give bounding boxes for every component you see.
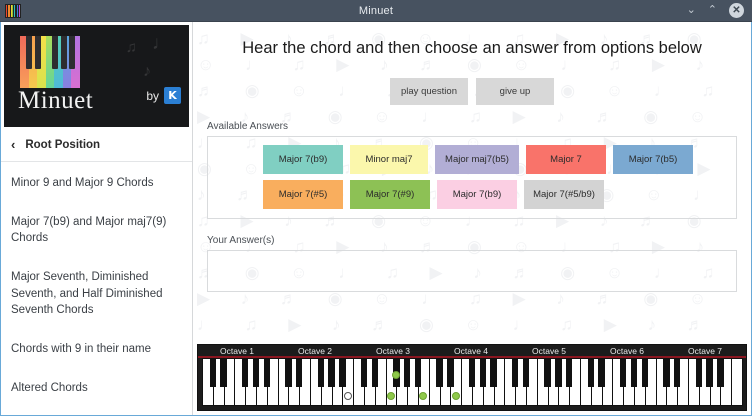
sidebar-item-major-seventh[interactable]: Major Seventh, Diminished Seventh, and H… <box>1 258 192 330</box>
music-note-icon: ♫ <box>126 39 137 56</box>
your-answers-label: Your Answer(s) <box>207 235 751 246</box>
piano-black-key[interactable] <box>544 358 550 387</box>
answer-option[interactable]: Major maj7(b5) <box>435 145 519 174</box>
available-answers-label: Available Answers <box>207 121 751 132</box>
piano-black-key[interactable] <box>598 358 604 387</box>
piano-black-key[interactable] <box>264 358 270 387</box>
piano-black-key[interactable] <box>555 358 561 387</box>
answer-option[interactable]: Major 7(b5) <box>613 145 693 174</box>
piano-black-key[interactable] <box>361 358 367 387</box>
piano-black-key[interactable] <box>674 358 680 387</box>
sidebar: ♫ ♩ ♪ Minuet by K ‹ Root Position Minor … <box>1 22 193 415</box>
note-marker-root <box>344 392 352 400</box>
octave-label: Octave 6 <box>610 346 644 356</box>
answer-option[interactable]: Major 7(#5) <box>263 180 343 209</box>
piano-black-key[interactable] <box>372 358 378 387</box>
play-question-button[interactable]: play question <box>390 78 468 105</box>
app-name: Minuet <box>18 87 93 115</box>
piano-black-key[interactable] <box>469 358 475 387</box>
piano-black-key[interactable] <box>210 358 216 387</box>
sidebar-item-chords-with-7[interactable]: Chords with 7 in their name <box>1 407 192 415</box>
note-marker-active <box>387 392 395 400</box>
by-label: by <box>146 89 159 103</box>
section-header[interactable]: ‹ Root Position <box>1 127 192 162</box>
kde-logo-icon: K <box>164 87 181 104</box>
piano-black-key[interactable] <box>620 358 626 387</box>
piano-black-key[interactable] <box>717 358 723 387</box>
piano-white-key[interactable] <box>731 358 743 406</box>
title-bar: Minuet ⌄ ⌃ ✕ <box>0 0 752 22</box>
vendor-credit: by K <box>146 87 181 104</box>
available-answers-panel: Major 7(b9) Minor maj7 Major maj7(b5) Ma… <box>207 136 737 219</box>
piano-black-key[interactable] <box>220 358 226 387</box>
piano-black-key[interactable] <box>339 358 345 387</box>
window-body: ♫ ♩ ♪ Minuet by K ‹ Root Position Minor … <box>0 22 752 416</box>
piano-black-key[interactable] <box>415 358 421 387</box>
answer-row-2: Major 7(#5) Major 7(#9) Major 7(b9) Majo… <box>216 180 728 209</box>
back-chevron-icon[interactable]: ‹ <box>11 137 15 152</box>
sidebar-item-chords-with-9[interactable]: Chords with 9 in their name <box>1 330 192 369</box>
piano-black-key[interactable] <box>490 358 496 387</box>
octave-label: Octave 4 <box>454 346 488 356</box>
answer-option[interactable]: Major 7 <box>526 145 606 174</box>
guitar-icon: ♩ <box>152 33 171 55</box>
close-button[interactable]: ✕ <box>729 3 744 18</box>
piano-black-key[interactable] <box>642 358 648 387</box>
rainbow-keyboard-icon <box>20 36 80 88</box>
maximize-button[interactable]: ⌃ <box>708 5 717 16</box>
answer-option[interactable]: Major 7(b9) <box>437 180 517 209</box>
piano-widget: Octave 1 Octave 2 Octave 3 Octave 4 Octa… <box>193 338 751 415</box>
piano-black-key[interactable] <box>285 358 291 387</box>
octave-label: Octave 2 <box>298 346 332 356</box>
octave-label: Octave 7 <box>688 346 722 356</box>
piano-black-key[interactable] <box>523 358 529 387</box>
octave-label: Octave 5 <box>532 346 566 356</box>
app-logo: ♫ ♩ ♪ Minuet by K <box>4 25 189 127</box>
answer-row-1: Major 7(b9) Minor maj7 Major maj7(b5) Ma… <box>216 145 728 174</box>
answer-option[interactable]: Minor maj7 <box>350 145 428 174</box>
piano-black-key[interactable] <box>318 358 324 387</box>
piano-black-key[interactable] <box>328 358 334 387</box>
exercise-controls: play question give up <box>193 78 751 105</box>
octave-label-bar: Octave 1 Octave 2 Octave 3 Octave 4 Octa… <box>198 345 746 358</box>
sidebar-nav: Minor 9 and Major 9 Chords Major 7(b9) a… <box>1 162 192 415</box>
piano-black-key[interactable] <box>404 358 410 387</box>
piano-black-key[interactable] <box>706 358 712 387</box>
piano-black-key[interactable] <box>663 358 669 387</box>
piano-black-key[interactable] <box>631 358 637 387</box>
octave-label: Octave 1 <box>220 346 254 356</box>
piano-black-key[interactable] <box>436 358 442 387</box>
answer-option[interactable]: Major 7(b9) <box>263 145 343 174</box>
answer-option[interactable]: Major 7(#9) <box>350 180 430 209</box>
page-title: Hear the chord and then choose an answer… <box>193 22 751 58</box>
piano-black-key[interactable] <box>242 358 248 387</box>
piano-black-key[interactable] <box>253 358 259 387</box>
your-answers-panel[interactable] <box>207 250 737 292</box>
octave-label: Octave 3 <box>376 346 410 356</box>
app-window: Minuet ⌄ ⌃ ✕ <box>0 0 752 416</box>
piano-keys[interactable] <box>202 358 742 406</box>
note-marker-active <box>452 392 460 400</box>
main-content: ♫ ▶ ♪ ♬ ◉ ☺ ♩ ♫ ▶ ♪ ♬ ◉ ☺ ♩ ♫ ▶ ♪ ♬ ◉ ☺ … <box>193 22 751 415</box>
note-icon: ♪ <box>143 63 151 81</box>
piano-keyboard[interactable]: Octave 1 Octave 2 Octave 3 Octave 4 Octa… <box>197 344 747 411</box>
window-title: Minuet <box>0 5 752 17</box>
piano-black-key[interactable] <box>588 358 594 387</box>
sidebar-item-minor9-major9[interactable]: Minor 9 and Major 9 Chords <box>1 164 192 203</box>
answer-option[interactable]: Major 7(#5/b9) <box>524 180 604 209</box>
piano-black-key[interactable] <box>512 358 518 387</box>
sidebar-item-altered-chords[interactable]: Altered Chords <box>1 369 192 408</box>
minimize-button[interactable]: ⌄ <box>687 5 696 16</box>
piano-black-key[interactable] <box>696 358 702 387</box>
sidebar-item-major7b9[interactable]: Major 7(b9) and Major maj7(9) Chords <box>1 203 192 258</box>
section-title: Root Position <box>25 139 100 151</box>
piano-black-key[interactable] <box>447 358 453 387</box>
piano-black-key[interactable] <box>566 358 572 387</box>
give-up-button[interactable]: give up <box>476 78 554 105</box>
piano-black-key[interactable] <box>480 358 486 387</box>
piano-black-key[interactable] <box>296 358 302 387</box>
